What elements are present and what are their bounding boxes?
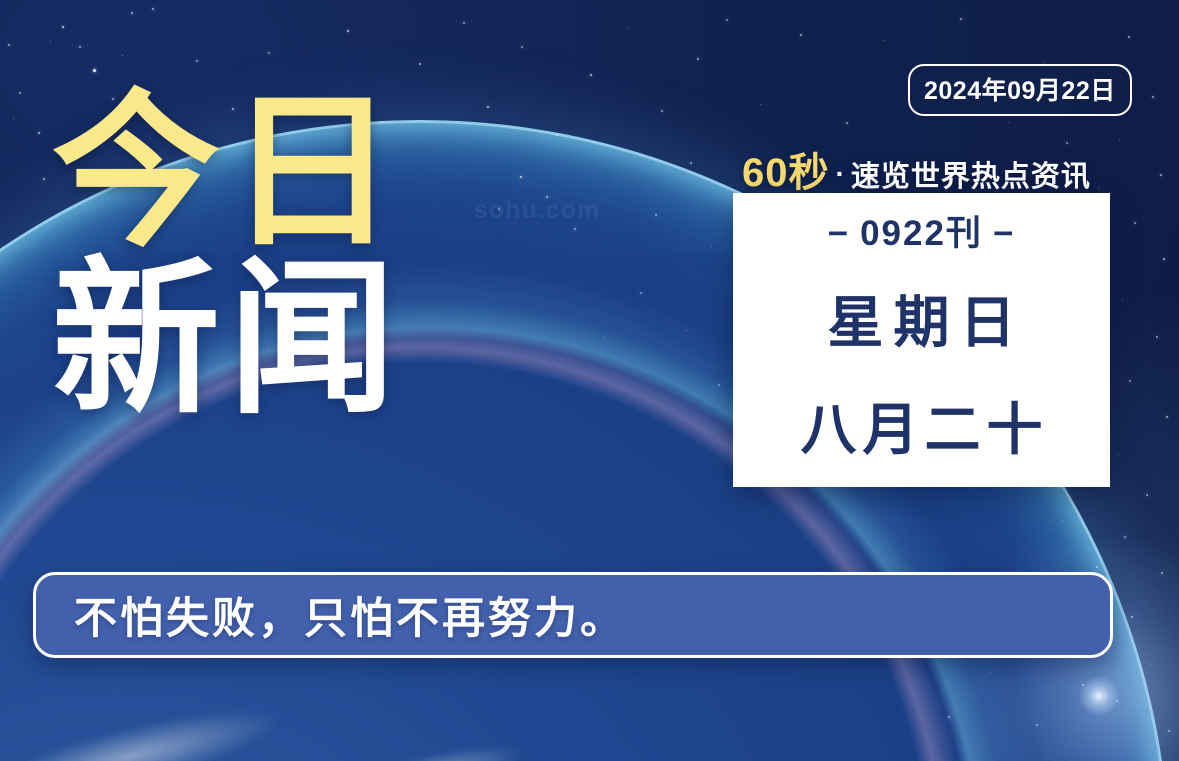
title-line-1: 今日 [52, 92, 404, 253]
issue-dash-right: − [983, 214, 1025, 253]
issue-line: −0922刊− [818, 205, 1026, 256]
bright-star-glow [1079, 676, 1119, 716]
tagline-seconds: 60秒 [742, 151, 830, 195]
tagline-separator: · [830, 158, 851, 189]
date-badge: 2024年09月22日 [908, 64, 1132, 116]
lunar-date-label: 八月二十 [795, 385, 1049, 466]
weekday-label: 星期日 [818, 278, 1026, 359]
quote-banner: 不怕失败，只怕不再努力。 [33, 572, 1113, 658]
tagline-description: 速览世界热点资讯 [851, 161, 1091, 193]
quote-text: 不怕失败，只怕不再努力。 [36, 584, 626, 646]
tagline: 60秒·速览世界热点资讯 [742, 140, 1091, 198]
issue-number: 0922刊 [860, 214, 983, 253]
date-info-card: −0922刊− 星期日 八月二十 [733, 193, 1110, 487]
page-title: 今日 新闻 [52, 92, 404, 421]
news-poster: sohu.com 今日 新闻 2024年09月22日 60秒·速览世界热点资讯 … [0, 0, 1179, 761]
title-line-2: 新闻 [52, 259, 404, 420]
issue-dash-left: − [818, 214, 860, 253]
